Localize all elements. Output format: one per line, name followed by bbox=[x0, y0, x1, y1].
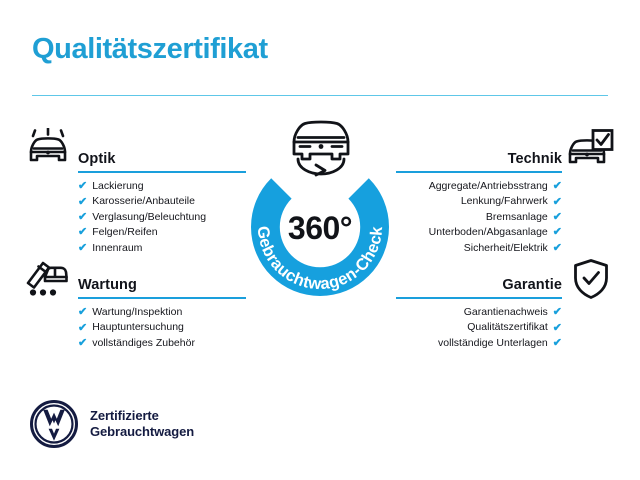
checklist-optik: ✔Lackierung ✔Karosserie/Anbauteile ✔Verg… bbox=[78, 179, 246, 256]
car-lift-wrench-icon bbox=[24, 256, 70, 303]
check-icon: ✔ bbox=[78, 212, 87, 223]
check-icon: ✔ bbox=[553, 243, 562, 254]
list-item-label: Qualitätszertifikat bbox=[467, 320, 548, 335]
badge-degrees: 360° bbox=[230, 210, 410, 247]
section-header: Optik bbox=[78, 143, 246, 169]
list-item-label: Bremsanlage bbox=[486, 210, 548, 225]
check-icon: ✔ bbox=[553, 212, 562, 223]
section-optik: Optik ✔Lackierung ✔Karosserie/Anbauteile… bbox=[78, 143, 246, 256]
list-item-label: Innenraum bbox=[92, 241, 142, 256]
section-header: Garantie bbox=[396, 269, 562, 295]
section-divider bbox=[396, 171, 562, 173]
list-item-label: Lackierung bbox=[92, 179, 143, 194]
list-item: Sicherheit/Elektrik✔ bbox=[396, 241, 562, 256]
shield-check-icon bbox=[572, 258, 610, 305]
footer-brand: Zertifizierte Gebrauchtwagen bbox=[30, 400, 194, 448]
list-item: Unterboden/Abgasanlage✔ bbox=[396, 225, 562, 240]
list-item: Aggregate/Antriebsstrang✔ bbox=[396, 179, 562, 194]
list-item: ✔vollständiges Zubehör bbox=[78, 336, 246, 351]
list-item: Garantienachweis✔ bbox=[396, 305, 562, 320]
list-item-label: Aggregate/Antriebsstrang bbox=[429, 179, 548, 194]
list-item: ✔Karosserie/Anbauteile bbox=[78, 194, 246, 209]
car-shine-icon bbox=[26, 128, 70, 173]
list-item: Lenkung/Fahrwerk✔ bbox=[396, 194, 562, 209]
checklist-technik: Aggregate/Antriebsstrang✔ Lenkung/Fahrwe… bbox=[396, 179, 562, 256]
section-title-optik: Optik bbox=[78, 151, 116, 167]
certificate-page: Qualitätszertifikat bbox=[0, 0, 640, 480]
page-title: Qualitätszertifikat bbox=[32, 33, 268, 66]
section-header: Wartung bbox=[78, 269, 246, 295]
title-divider bbox=[32, 95, 608, 96]
check-icon: ✔ bbox=[78, 323, 87, 334]
check-icon: ✔ bbox=[553, 307, 562, 318]
section-divider bbox=[78, 297, 246, 299]
check-icon: ✔ bbox=[78, 197, 87, 208]
section-garantie: Garantie Garantienachweis✔ Qualitätszert… bbox=[396, 269, 562, 351]
check-icon: ✔ bbox=[78, 227, 87, 238]
section-wartung: Wartung ✔Wartung/Inspektion ✔Hauptunters… bbox=[78, 269, 246, 351]
badge-360-gebrauchtwagen-check: Gebrauchtwagen-Check 360° bbox=[230, 118, 410, 308]
footer-text: Zertifizierte Gebrauchtwagen bbox=[90, 408, 194, 440]
list-item-label: Felgen/Reifen bbox=[92, 225, 157, 240]
check-icon: ✔ bbox=[78, 181, 87, 192]
list-item-label: Verglasung/Beleuchtung bbox=[92, 210, 206, 225]
list-item: ✔Lackierung bbox=[78, 179, 246, 194]
list-item-label: Karosserie/Anbauteile bbox=[92, 194, 195, 209]
check-icon: ✔ bbox=[553, 227, 562, 238]
check-icon: ✔ bbox=[553, 181, 562, 192]
section-header: Technik bbox=[396, 143, 562, 169]
list-item: Qualitätszertifikat✔ bbox=[396, 320, 562, 335]
list-item-label: Lenkung/Fahrwerk bbox=[461, 194, 548, 209]
list-item-label: Wartung/Inspektion bbox=[92, 305, 182, 320]
section-technik: Technik Aggregate/Antriebsstrang✔ Lenkun… bbox=[396, 143, 562, 256]
section-divider bbox=[78, 171, 246, 173]
check-icon: ✔ bbox=[553, 197, 562, 208]
list-item-label: Unterboden/Abgasanlage bbox=[429, 225, 548, 240]
footer-line-2: Gebrauchtwagen bbox=[90, 424, 194, 440]
section-title-wartung: Wartung bbox=[78, 277, 137, 293]
list-item: vollständige Unterlagen✔ bbox=[396, 336, 562, 351]
section-title-technik: Technik bbox=[508, 151, 562, 167]
list-item: ✔Hauptuntersuchung bbox=[78, 320, 246, 335]
check-icon: ✔ bbox=[78, 338, 87, 349]
list-item: ✔Wartung/Inspektion bbox=[78, 305, 246, 320]
list-item-label: Sicherheit/Elektrik bbox=[464, 241, 548, 256]
list-item-label: vollständiges Zubehör bbox=[92, 336, 195, 351]
list-item: ✔Felgen/Reifen bbox=[78, 225, 246, 240]
list-item: ✔Verglasung/Beleuchtung bbox=[78, 210, 246, 225]
checklist-wartung: ✔Wartung/Inspektion ✔Hauptuntersuchung ✔… bbox=[78, 305, 246, 351]
vw-logo bbox=[30, 400, 78, 448]
list-item-label: Garantienachweis bbox=[464, 305, 548, 320]
check-icon: ✔ bbox=[78, 243, 87, 254]
list-item-label: Hauptuntersuchung bbox=[92, 320, 184, 335]
check-icon: ✔ bbox=[553, 323, 562, 334]
list-item: ✔Innenraum bbox=[78, 241, 246, 256]
section-divider bbox=[396, 297, 562, 299]
check-icon: ✔ bbox=[553, 338, 562, 349]
list-item: Bremsanlage✔ bbox=[396, 210, 562, 225]
list-item-label: vollständige Unterlagen bbox=[438, 336, 548, 351]
checklist-garantie: Garantienachweis✔ Qualitätszertifikat✔ v… bbox=[396, 305, 562, 351]
section-title-garantie: Garantie bbox=[502, 277, 562, 293]
check-icon: ✔ bbox=[78, 307, 87, 318]
car-checkbox-icon bbox=[566, 128, 614, 175]
footer-line-1: Zertifizierte bbox=[90, 408, 194, 424]
